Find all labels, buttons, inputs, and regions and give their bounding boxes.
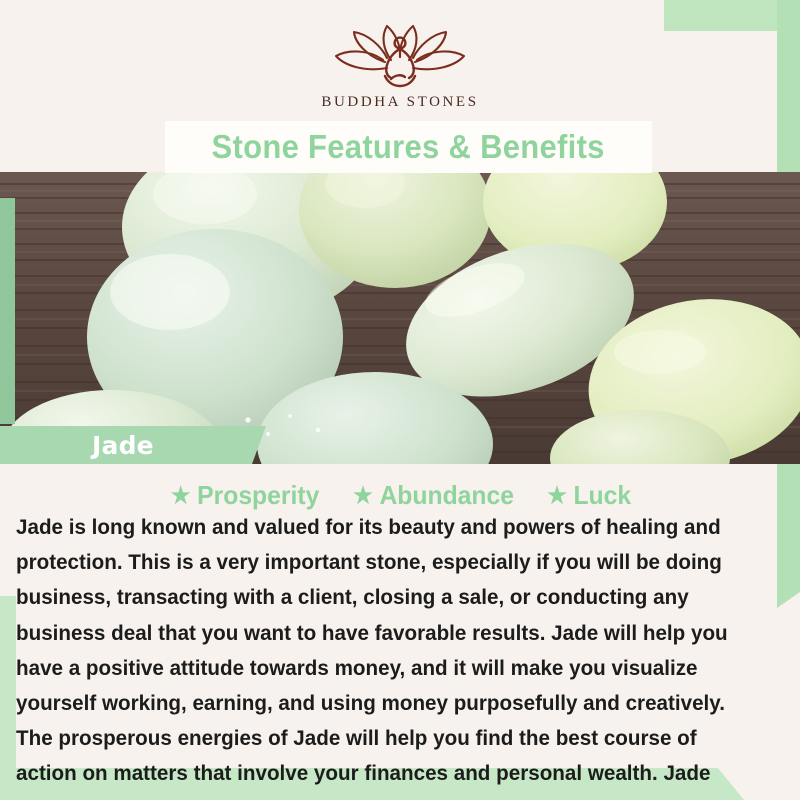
page-title-panel: Stone Features & Benefits [165, 121, 652, 173]
infographic-canvas: BUDDHA STONES [0, 0, 800, 800]
description-text: Jade is long known and valued for its be… [16, 509, 753, 800]
stone-name-label: Jade [92, 431, 154, 460]
benefit-item-luck: ★ Luck [547, 480, 631, 511]
star-icon: ★ [547, 484, 567, 507]
brand-wordmark: BUDDHA STONES [321, 94, 478, 111]
benefit-label: Prosperity [197, 480, 319, 511]
stone-name-bar: Jade [0, 426, 252, 464]
star-icon: ★ [171, 484, 191, 507]
benefit-label: Luck [573, 480, 631, 511]
benefit-item-abundance: ★ Abundance [354, 480, 515, 511]
benefit-item-prosperity: ★ Prosperity [171, 480, 319, 511]
description-panel: Jade is long known and valued for its be… [16, 509, 788, 800]
brand-logo-block: BUDDHA STONES [0, 22, 800, 118]
page-title: Stone Features & Benefits [212, 128, 605, 166]
benefits-row: ★ Prosperity ★ Abundance ★ Luck [0, 479, 800, 511]
benefit-label: Abundance [380, 480, 514, 511]
jade-tumbled-stones-photo [0, 172, 800, 464]
lotus-meditation-icon [325, 22, 475, 92]
accent-left-vertical-strip [0, 198, 15, 424]
star-icon: ★ [354, 484, 374, 507]
